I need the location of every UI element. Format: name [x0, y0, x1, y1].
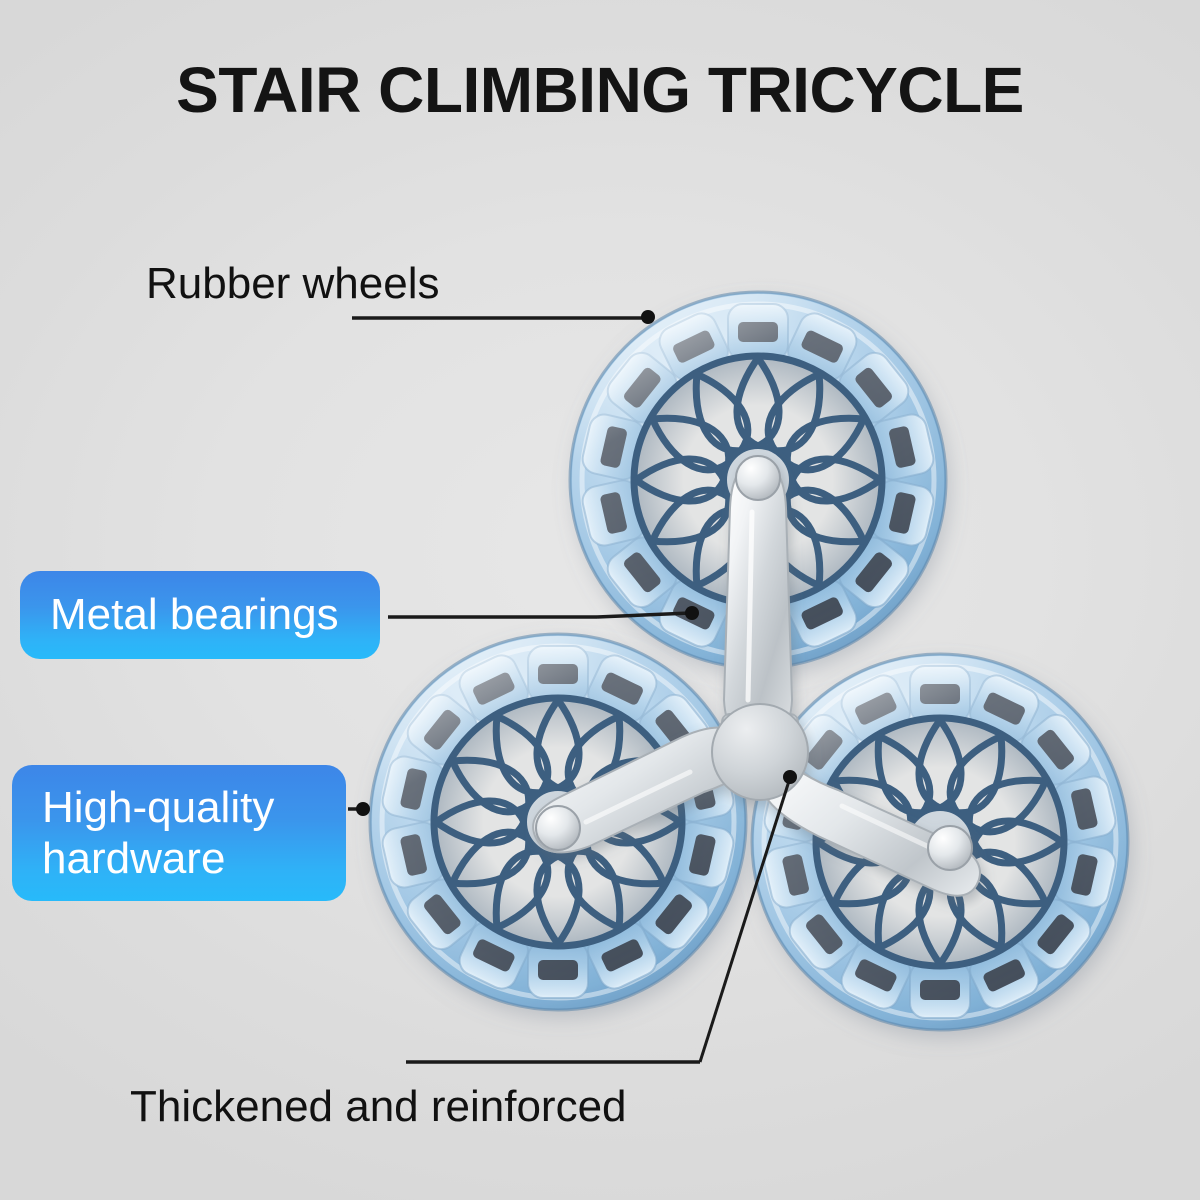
callout-thickened-and-reinforced: Thickened and reinforced [130, 1081, 627, 1132]
callout-high-quality-hardware-line1: High-quality [42, 782, 274, 833]
callout-high-quality-hardware-text: High-quality hardware [42, 782, 274, 885]
callout-metal-bearings: Metal bearings [20, 571, 380, 659]
callout-metal-bearings-label: Metal bearings [50, 589, 339, 640]
callout-rubber-wheels: Rubber wheels [146, 258, 440, 309]
callout-high-quality-hardware-line2: hardware [42, 833, 274, 884]
product-infographic-page: STAIR CLIMBING TRICYCLE [0, 0, 1200, 1200]
callout-high-quality-hardware: High-quality hardware [12, 765, 346, 901]
